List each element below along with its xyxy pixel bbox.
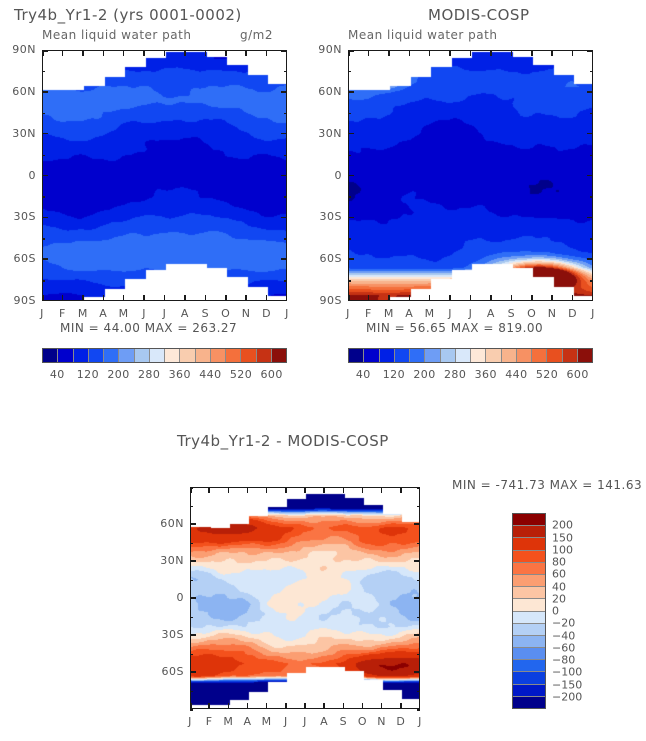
- lwp-colorbar-tick-label: 280: [442, 368, 468, 381]
- axis-minor-tick: [284, 71, 287, 73]
- axis-tick: [587, 91, 593, 93]
- obs-yaxis-label: 30N: [310, 127, 342, 140]
- axis-minor-tick: [42, 196, 45, 198]
- axis-tick: [123, 50, 125, 56]
- axis-tick: [190, 597, 196, 599]
- colorbar-cell: [517, 349, 532, 362]
- axis-minor-tick: [42, 238, 45, 240]
- axis-tick: [388, 50, 390, 56]
- axis-tick: [381, 703, 383, 709]
- axis-tick: [343, 703, 345, 709]
- diff-xaxis-label: J: [300, 715, 310, 728]
- lwp-colorbar-right: [348, 348, 593, 363]
- model-xaxis-label: N: [241, 307, 251, 320]
- model-yaxis-label: 60N: [4, 85, 36, 98]
- lwp-colorbar-tick-label: 120: [381, 368, 407, 381]
- axis-tick: [281, 91, 287, 93]
- colorbar-cell: [486, 349, 501, 362]
- colorbar-cell: [425, 349, 440, 362]
- axis-tick: [414, 597, 420, 599]
- axis-tick: [400, 487, 402, 493]
- colorbar-cell: [502, 349, 517, 362]
- model-xaxis-label: J: [139, 307, 149, 320]
- axis-tick: [348, 258, 354, 260]
- diff-colorbar-tick-label: 40: [552, 580, 566, 593]
- lwp-colorbar-tick-label: 200: [412, 368, 438, 381]
- axis-tick: [400, 703, 402, 709]
- axis-tick: [266, 295, 268, 301]
- axis-tick: [42, 258, 48, 260]
- diff-yaxis-label: 60S: [152, 665, 184, 678]
- axis-tick: [587, 217, 593, 219]
- axis-tick: [304, 703, 306, 709]
- obs-xaxis-label: S: [506, 307, 516, 320]
- axis-tick: [368, 50, 370, 56]
- axis-tick: [247, 703, 249, 709]
- axis-tick: [208, 703, 210, 709]
- axis-tick: [281, 175, 287, 177]
- diff-xaxis-label: D: [396, 715, 406, 728]
- axis-tick: [551, 295, 553, 301]
- diff-colorbar-tick-label: −100: [552, 666, 582, 679]
- diff-colorbar-tick-label: −60: [552, 641, 575, 654]
- colorbar-cell: [471, 349, 486, 362]
- colorbar-cell: [513, 697, 545, 708]
- colorbar-cell: [513, 514, 545, 526]
- colorbar-cell: [43, 349, 58, 362]
- axis-tick: [429, 295, 431, 301]
- colorbar-cell: [135, 349, 150, 362]
- axis-minor-tick: [590, 71, 593, 73]
- diff-colorbar-tick-label: −150: [552, 678, 582, 691]
- obs-xaxis-label: D: [568, 307, 578, 320]
- axis-tick: [551, 50, 553, 56]
- axis-tick: [348, 133, 354, 135]
- colorbar-cell: [257, 349, 272, 362]
- model-xaxis-label: M: [119, 307, 129, 320]
- axis-minor-tick: [190, 506, 193, 508]
- axis-tick: [348, 175, 354, 177]
- axis-tick: [103, 295, 105, 301]
- colorbar-cell: [513, 672, 545, 684]
- colorbar-cell: [513, 660, 545, 672]
- axis-minor-tick: [348, 71, 351, 73]
- diff-colorbar-tick-label: 150: [552, 531, 573, 544]
- obs-yaxis-label: 60S: [310, 252, 342, 265]
- axis-tick: [42, 217, 48, 219]
- axis-minor-tick: [284, 196, 287, 198]
- axis-tick: [449, 295, 451, 301]
- lwp-colorbar-tick-label: 600: [259, 368, 285, 381]
- lwp-colorbar-tick-label: 440: [503, 368, 529, 381]
- obs-xaxis-label: O: [527, 307, 537, 320]
- colorbar-cell: [578, 349, 592, 362]
- diff-colorbar-tick-label: 100: [552, 543, 573, 556]
- axis-tick: [362, 703, 364, 709]
- model-panel-units: g/m2: [240, 28, 273, 42]
- diff-xaxis-label: N: [377, 715, 387, 728]
- axis-tick: [348, 91, 354, 93]
- model-yaxis-label: 60S: [4, 252, 36, 265]
- diff-xaxis-label: M: [223, 715, 233, 728]
- colorbar-cell: [395, 349, 410, 362]
- axis-tick: [414, 560, 420, 562]
- diff-colorbar-tick-label: 200: [552, 519, 573, 532]
- axis-minor-tick: [417, 617, 420, 619]
- axis-tick: [470, 295, 472, 301]
- axis-tick: [285, 487, 287, 493]
- diff-xaxis-label: S: [338, 715, 348, 728]
- axis-tick: [362, 487, 364, 493]
- colorbar-cell: [211, 349, 226, 362]
- obs-yaxis-label: 0: [310, 169, 342, 182]
- lwp-colorbar-tick-label: 280: [136, 368, 162, 381]
- colorbar-cell: [89, 349, 104, 362]
- axis-tick: [42, 50, 48, 52]
- colorbar-cell: [532, 349, 547, 362]
- lwp-colorbar-tick-label: 360: [473, 368, 499, 381]
- axis-tick: [285, 703, 287, 709]
- axis-tick: [266, 487, 268, 493]
- model-yaxis-label: 30N: [4, 127, 36, 140]
- axis-tick: [190, 634, 196, 636]
- colorbar-cell: [364, 349, 379, 362]
- diff-xaxis-label: M: [262, 715, 272, 728]
- axis-tick: [42, 300, 48, 302]
- axis-minor-tick: [417, 506, 420, 508]
- axis-tick: [409, 50, 411, 56]
- axis-tick: [82, 295, 84, 301]
- colorbar-cell: [513, 599, 545, 611]
- axis-tick: [205, 50, 207, 56]
- axis-tick: [368, 295, 370, 301]
- diff-yaxis-label: 30N: [152, 554, 184, 567]
- axis-tick: [490, 295, 492, 301]
- obs-yaxis-label: 30S: [310, 210, 342, 223]
- model-xaxis-label: O: [221, 307, 231, 320]
- axis-minor-tick: [417, 543, 420, 545]
- colorbar-cell: [272, 349, 286, 362]
- diff-colorbar-tick-label: −20: [552, 617, 575, 630]
- diff-xaxis-label: O: [358, 715, 368, 728]
- obs-xaxis-label: N: [547, 307, 557, 320]
- axis-tick: [348, 50, 354, 52]
- obs-contour-plot: [348, 50, 593, 301]
- model-xaxis-label: M: [78, 307, 88, 320]
- axis-minor-tick: [590, 280, 593, 282]
- diff-xaxis-label: A: [319, 715, 329, 728]
- axis-minor-tick: [190, 543, 193, 545]
- axis-tick: [164, 50, 166, 56]
- lwp-colorbar-left: [42, 348, 287, 363]
- axis-minor-tick: [284, 155, 287, 157]
- obs-xaxis-label: A: [404, 307, 414, 320]
- model-panel-title: Try4b_Yr1-2 (yrs 0001-0002): [14, 6, 242, 24]
- axis-tick: [42, 91, 48, 93]
- diff-contour-plot: [190, 487, 420, 709]
- lwp-colorbar-tick-label: 120: [75, 368, 101, 381]
- axis-tick: [266, 50, 268, 56]
- obs-yaxis-label: 90S: [310, 294, 342, 307]
- lwp-colorbar-tick-label: 520: [534, 368, 560, 381]
- axis-tick: [245, 295, 247, 301]
- axis-minor-tick: [190, 580, 193, 582]
- axis-minor-tick: [590, 155, 593, 157]
- axis-tick: [228, 703, 230, 709]
- axis-minor-tick: [190, 709, 193, 711]
- axis-minor-tick: [348, 238, 351, 240]
- colorbar-cell: [58, 349, 73, 362]
- axis-minor-tick: [417, 487, 420, 489]
- axis-minor-tick: [348, 155, 351, 157]
- colorbar-cell: [547, 349, 562, 362]
- axis-tick: [62, 50, 64, 56]
- axis-tick: [531, 295, 533, 301]
- diff-xaxis-label: J: [281, 715, 291, 728]
- diff-xaxis-label: F: [204, 715, 214, 728]
- axis-tick: [281, 133, 287, 135]
- axis-tick: [323, 487, 325, 493]
- axis-tick: [143, 50, 145, 56]
- obs-xaxis-label: J: [445, 307, 455, 320]
- diff-yaxis-label: 0: [152, 591, 184, 604]
- obs-minmax-label: MIN = 56.65 MAX = 819.00: [366, 321, 543, 335]
- obs-xaxis-label: J: [466, 307, 476, 320]
- axis-minor-tick: [190, 654, 193, 656]
- axis-minor-tick: [417, 709, 420, 711]
- diff-colorbar-tick-label: −80: [552, 654, 575, 667]
- axis-tick: [429, 50, 431, 56]
- lwp-colorbar-tick-label: 520: [228, 368, 254, 381]
- diff-xaxis-label: J: [185, 715, 195, 728]
- diff-colorbar: [512, 513, 546, 709]
- colorbar-cell: [513, 624, 545, 636]
- axis-tick: [281, 217, 287, 219]
- axis-tick: [228, 487, 230, 493]
- model-xaxis-label: S: [200, 307, 210, 320]
- axis-tick: [281, 50, 287, 52]
- axis-minor-tick: [42, 280, 45, 282]
- axis-tick: [164, 295, 166, 301]
- diff-minmax-label: MIN = -741.73 MAX = 141.63: [452, 478, 642, 492]
- colorbar-cell: [119, 349, 134, 362]
- axis-tick: [348, 300, 354, 302]
- diff-colorbar-tick-label: 20: [552, 592, 566, 605]
- diff-colorbar-tick-label: 0: [552, 605, 559, 618]
- colorbar-cell: [441, 349, 456, 362]
- colorbar-cell: [241, 349, 256, 362]
- axis-tick: [343, 487, 345, 493]
- axis-tick: [304, 487, 306, 493]
- axis-tick: [348, 217, 354, 219]
- colorbar-cell: [380, 349, 395, 362]
- obs-xaxis-label: J: [343, 307, 353, 320]
- diff-colorbar-tick-label: 60: [552, 568, 566, 581]
- axis-minor-tick: [284, 280, 287, 282]
- axis-tick: [388, 295, 390, 301]
- axis-tick: [245, 50, 247, 56]
- diff-contour-canvas: [191, 488, 420, 709]
- axis-minor-tick: [417, 691, 420, 693]
- obs-xaxis-label: M: [425, 307, 435, 320]
- obs-panel-title: MODIS-COSP: [428, 6, 530, 24]
- colorbar-cell: [513, 575, 545, 587]
- model-xaxis-label: D: [262, 307, 272, 320]
- axis-tick: [587, 50, 593, 52]
- axis-tick: [42, 133, 48, 135]
- axis-tick: [281, 300, 287, 302]
- colorbar-cell: [513, 538, 545, 550]
- colorbar-cell: [513, 648, 545, 660]
- axis-tick: [587, 175, 593, 177]
- colorbar-cell: [513, 612, 545, 624]
- model-contour-canvas: [43, 51, 287, 301]
- lwp-colorbar-tick-label: 200: [106, 368, 132, 381]
- obs-yaxis-label: 60N: [310, 85, 342, 98]
- axis-minor-tick: [42, 113, 45, 115]
- axis-minor-tick: [417, 580, 420, 582]
- lwp-colorbar-tick-label: 40: [44, 368, 70, 381]
- axis-tick: [190, 560, 196, 562]
- axis-tick: [414, 671, 420, 673]
- axis-minor-tick: [284, 238, 287, 240]
- axis-minor-tick: [348, 113, 351, 115]
- colorbar-cell: [74, 349, 89, 362]
- diff-yaxis-label: 60N: [152, 517, 184, 530]
- axis-tick: [123, 295, 125, 301]
- axis-minor-tick: [284, 113, 287, 115]
- axis-tick: [281, 258, 287, 260]
- model-yaxis-label: 30S: [4, 210, 36, 223]
- axis-tick: [42, 175, 48, 177]
- axis-tick: [184, 50, 186, 56]
- model-contour-plot: [42, 50, 287, 301]
- model-yaxis-label: 0: [4, 169, 36, 182]
- diff-xaxis-label: J: [415, 715, 425, 728]
- obs-xaxis-label: J: [588, 307, 598, 320]
- axis-tick: [184, 295, 186, 301]
- lwp-colorbar-tick-label: 360: [167, 368, 193, 381]
- axis-tick: [103, 50, 105, 56]
- colorbar-cell: [226, 349, 241, 362]
- model-panel-subtitle: Mean liquid water path: [42, 28, 191, 42]
- colorbar-cell: [513, 636, 545, 648]
- colorbar-cell: [513, 587, 545, 599]
- colorbar-cell: [150, 349, 165, 362]
- axis-minor-tick: [590, 238, 593, 240]
- model-yaxis-label: 90N: [4, 43, 36, 56]
- axis-tick: [511, 50, 513, 56]
- axis-tick: [409, 295, 411, 301]
- obs-xaxis-label: F: [363, 307, 373, 320]
- diff-colorbar-tick-label: −200: [552, 690, 582, 703]
- lwp-colorbar-tick-label: 440: [197, 368, 223, 381]
- colorbar-cell: [513, 685, 545, 697]
- axis-tick: [225, 50, 227, 56]
- axis-minor-tick: [590, 196, 593, 198]
- model-yaxis-label: 90S: [4, 294, 36, 307]
- axis-minor-tick: [42, 71, 45, 73]
- diff-colorbar-tick-label: −40: [552, 629, 575, 642]
- model-minmax-label: MIN = 44.00 MAX = 263.27: [60, 321, 237, 335]
- colorbar-cell: [456, 349, 471, 362]
- colorbar-cell: [104, 349, 119, 362]
- colorbar-cell: [349, 349, 364, 362]
- axis-tick: [531, 50, 533, 56]
- axis-minor-tick: [348, 196, 351, 198]
- axis-minor-tick: [417, 654, 420, 656]
- axis-tick: [225, 295, 227, 301]
- colorbar-cell: [513, 526, 545, 538]
- axis-tick: [323, 703, 325, 709]
- diff-colorbar-tick-label: 80: [552, 556, 566, 569]
- axis-tick: [190, 671, 196, 673]
- axis-tick: [143, 295, 145, 301]
- obs-contour-canvas: [349, 51, 593, 301]
- colorbar-cell: [513, 551, 545, 563]
- axis-tick: [247, 487, 249, 493]
- axis-minor-tick: [590, 113, 593, 115]
- axis-tick: [587, 300, 593, 302]
- diff-panel-title: Try4b_Yr1-2 - MODIS-COSP: [177, 432, 389, 450]
- axis-minor-tick: [348, 280, 351, 282]
- axis-tick: [490, 50, 492, 56]
- axis-tick: [414, 634, 420, 636]
- colorbar-cell: [563, 349, 578, 362]
- axis-tick: [587, 258, 593, 260]
- axis-minor-tick: [190, 691, 193, 693]
- model-xaxis-label: A: [98, 307, 108, 320]
- axis-tick: [62, 295, 64, 301]
- obs-xaxis-label: A: [486, 307, 496, 320]
- colorbar-cell: [513, 563, 545, 575]
- axis-tick: [414, 523, 420, 525]
- axis-tick: [470, 50, 472, 56]
- axis-minor-tick: [190, 487, 193, 489]
- lwp-colorbar-tick-label: 600: [565, 368, 591, 381]
- axis-tick: [587, 133, 593, 135]
- diff-xaxis-label: A: [243, 715, 253, 728]
- obs-yaxis-label: 90N: [310, 43, 342, 56]
- axis-tick: [572, 50, 574, 56]
- axis-minor-tick: [42, 155, 45, 157]
- lwp-colorbar-tick-label: 40: [350, 368, 376, 381]
- axis-minor-tick: [190, 617, 193, 619]
- colorbar-cell: [165, 349, 180, 362]
- model-xaxis-label: J: [282, 307, 292, 320]
- colorbar-cell: [196, 349, 211, 362]
- axis-tick: [511, 295, 513, 301]
- axis-tick: [266, 703, 268, 709]
- axis-tick: [82, 50, 84, 56]
- axis-tick: [208, 487, 210, 493]
- model-xaxis-label: J: [160, 307, 170, 320]
- model-xaxis-label: J: [37, 307, 47, 320]
- diff-yaxis-label: 30S: [152, 628, 184, 641]
- obs-panel-subtitle: Mean liquid water path: [348, 28, 497, 42]
- axis-tick: [205, 295, 207, 301]
- model-xaxis-label: A: [180, 307, 190, 320]
- axis-tick: [449, 50, 451, 56]
- axis-tick: [381, 487, 383, 493]
- axis-tick: [572, 295, 574, 301]
- axis-tick: [190, 523, 196, 525]
- obs-xaxis-label: M: [384, 307, 394, 320]
- colorbar-cell: [410, 349, 425, 362]
- colorbar-cell: [180, 349, 195, 362]
- model-xaxis-label: F: [57, 307, 67, 320]
